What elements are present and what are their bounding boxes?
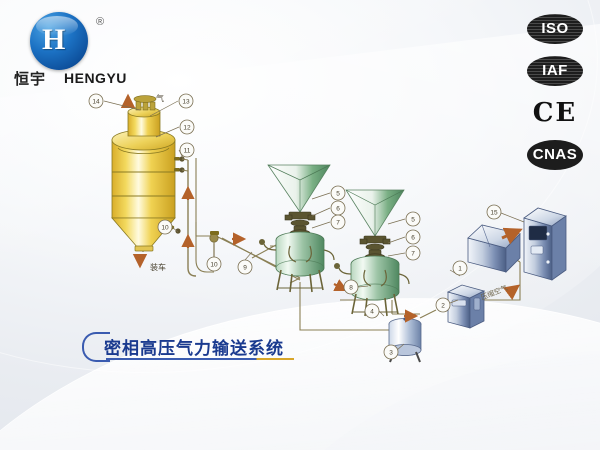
label-truck-loading: 装车: [150, 262, 166, 272]
line-valve-station: [210, 231, 244, 260]
callout-3: 3: [384, 345, 398, 359]
svg-text:4: 4: [370, 308, 374, 315]
callout-6b: 6: [406, 230, 420, 244]
callout-2: 2: [436, 298, 450, 312]
svg-text:10: 10: [161, 224, 169, 231]
system-title-banner: 密相高压气力输送系统: [82, 332, 297, 360]
flow-arrow-air-line: [510, 286, 518, 292]
svg-text:13: 13: [182, 98, 190, 105]
callout-11: 11: [180, 143, 194, 157]
label-gas-inlet: 气: [156, 93, 164, 103]
callout-7: 7: [331, 215, 345, 229]
svg-text:9: 9: [243, 264, 247, 271]
callout-15: 15: [487, 205, 501, 219]
svg-text:12: 12: [183, 124, 191, 131]
svg-text:5: 5: [411, 216, 415, 223]
callout-13: 13: [179, 94, 193, 108]
control-cabinet: [524, 208, 566, 280]
conveying-unit-1: [259, 165, 334, 292]
svg-text:2: 2: [441, 302, 445, 309]
svg-text:7: 7: [411, 250, 415, 257]
callout-4: 4: [365, 304, 379, 318]
callout-5: 5: [331, 186, 345, 200]
svg-text:6: 6: [336, 205, 340, 212]
label-compressed-air: 压缩空气: [479, 283, 508, 302]
svg-text:15: 15: [490, 209, 498, 216]
callout-12: 12: [180, 120, 194, 134]
air-compressor-small: [448, 285, 484, 328]
callout-8: 8: [344, 280, 358, 294]
svg-text:7: 7: [336, 219, 340, 226]
callout-6: 6: [331, 201, 345, 215]
svg-text:14: 14: [92, 98, 100, 105]
svg-text:10: 10: [210, 261, 218, 268]
svg-text:5: 5: [336, 190, 340, 197]
svg-text:3: 3: [389, 349, 393, 356]
callout-10b: 10: [158, 220, 172, 234]
svg-text:11: 11: [184, 147, 191, 154]
logo-monogram-icon: H: [42, 22, 76, 58]
banner-underline: [106, 358, 294, 360]
page-title: 密相高压气力输送系统: [104, 334, 284, 359]
callout-14: 14: [89, 94, 103, 108]
poster-canvas: H ® 恒宇 HENGYU ISO IAF CE CNAS: [0, 0, 600, 450]
callout-7b: 7: [406, 246, 420, 260]
callout-1: 1: [453, 261, 467, 275]
callout-5b: 5: [406, 212, 420, 226]
svg-text:6: 6: [411, 234, 415, 241]
callout-10: 10: [207, 257, 221, 271]
callout-9: 9: [238, 260, 252, 274]
svg-text:8: 8: [349, 284, 353, 291]
svg-text:1: 1: [458, 265, 462, 272]
process-flow-diagram: 14 13 12 11 10 10 9 5 6 7 5 6 7 8 4 3 2 …: [0, 0, 600, 450]
